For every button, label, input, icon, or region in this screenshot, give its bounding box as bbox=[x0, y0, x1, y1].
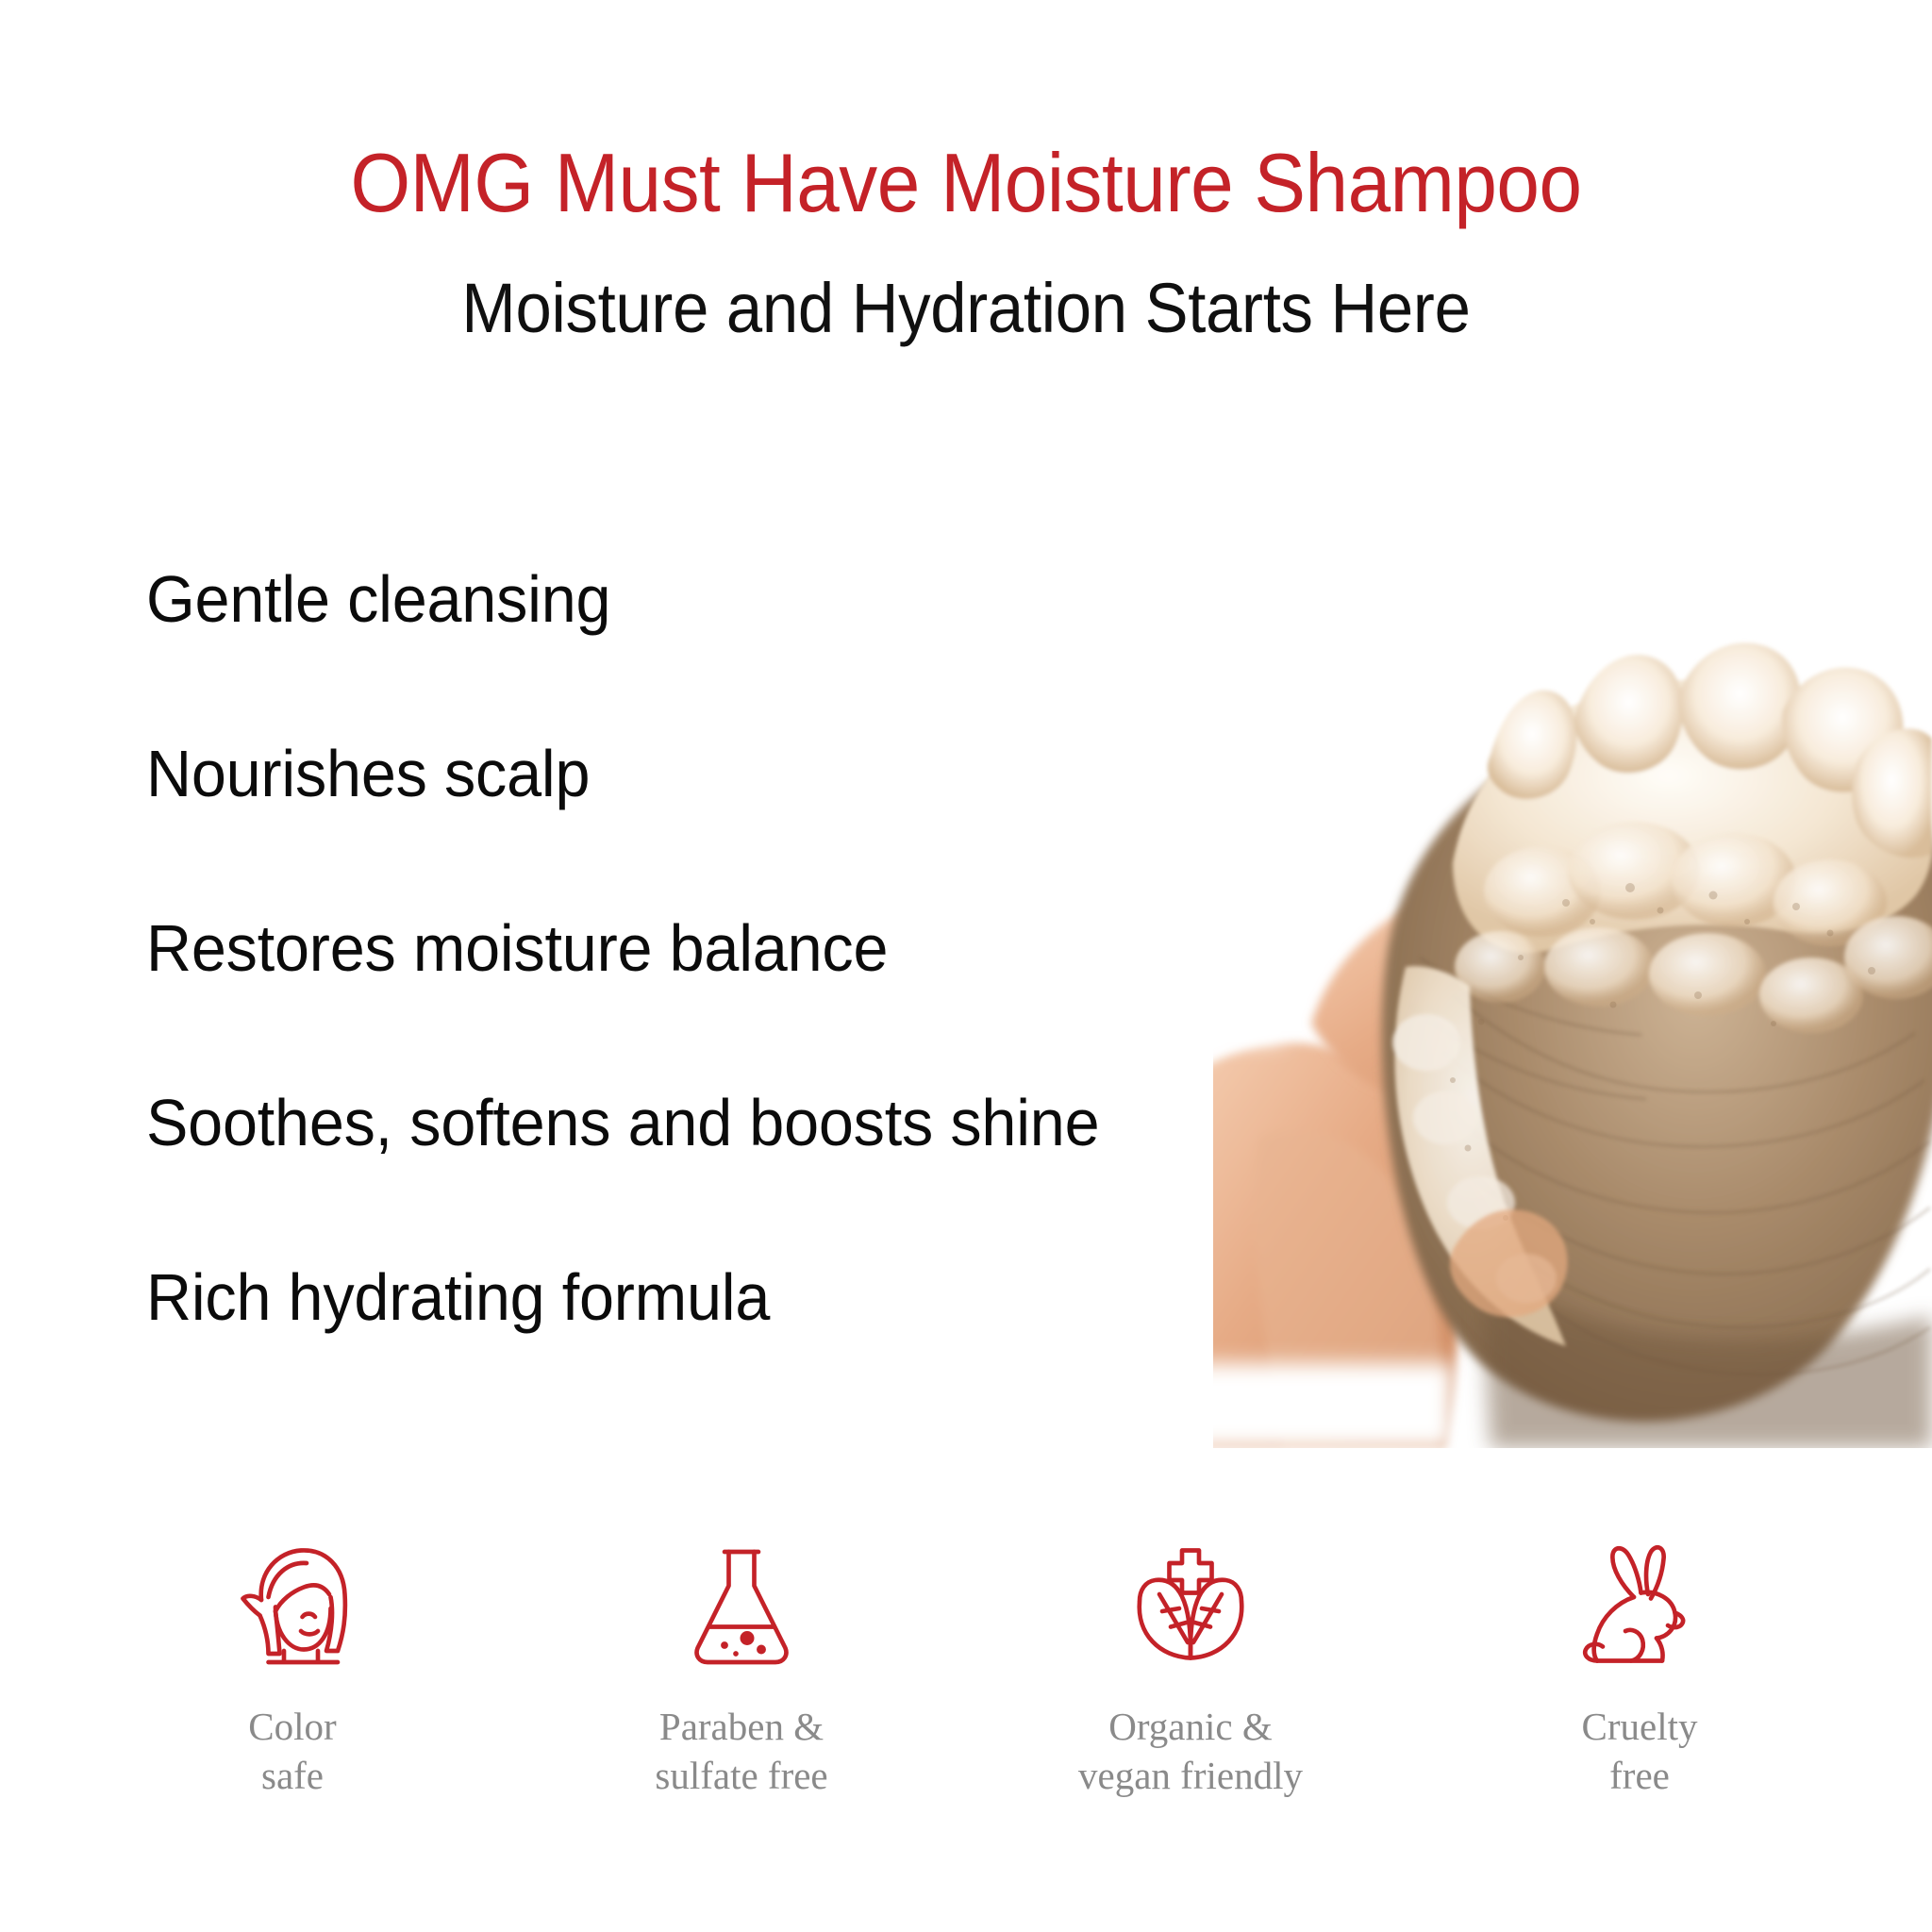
benefit-item: Gentle cleansing bbox=[146, 566, 1177, 632]
badge-label: Color safe bbox=[248, 1702, 336, 1801]
badge-color-safe: Color safe bbox=[113, 1538, 472, 1801]
badge-paraben-sulfate-free: Paraben & sulfate free bbox=[562, 1538, 921, 1801]
badge-label: Cruelty free bbox=[1582, 1702, 1698, 1801]
badge-cruelty-free: Cruelty free bbox=[1460, 1538, 1819, 1801]
badge-organic-vegan: Organic & vegan friendly bbox=[1011, 1538, 1370, 1801]
product-marketing-graphic: OMG Must Have Moisture Shampoo Moisture … bbox=[0, 0, 1932, 1932]
benefit-item: Soothes, softens and boosts shine bbox=[146, 1090, 1177, 1156]
hair-washing-lather-photo bbox=[1170, 552, 1932, 1448]
badge-label: Paraben & sulfate free bbox=[655, 1702, 827, 1801]
leaves-plus-icon bbox=[1120, 1538, 1261, 1679]
benefit-item: Restores moisture balance bbox=[146, 915, 1177, 981]
woman-hair-face-icon bbox=[222, 1538, 363, 1679]
badge-label: Organic & vegan friendly bbox=[1078, 1702, 1303, 1801]
benefits-list: Gentle cleansing Nourishes scalp Restore… bbox=[146, 566, 1231, 1330]
photo-artwork bbox=[1170, 552, 1932, 1448]
trust-badges: Color safe Paraben & sulfate free bbox=[0, 1538, 1932, 1801]
rabbit-icon bbox=[1569, 1538, 1710, 1679]
page-subtitle: Moisture and Hydration Starts Here bbox=[68, 274, 1865, 343]
benefit-item: Nourishes scalp bbox=[146, 741, 1177, 807]
benefit-item: Rich hydrating formula bbox=[146, 1264, 1177, 1330]
page-title: OMG Must Have Moisture Shampoo bbox=[68, 142, 1865, 225]
flask-icon bbox=[671, 1538, 812, 1679]
